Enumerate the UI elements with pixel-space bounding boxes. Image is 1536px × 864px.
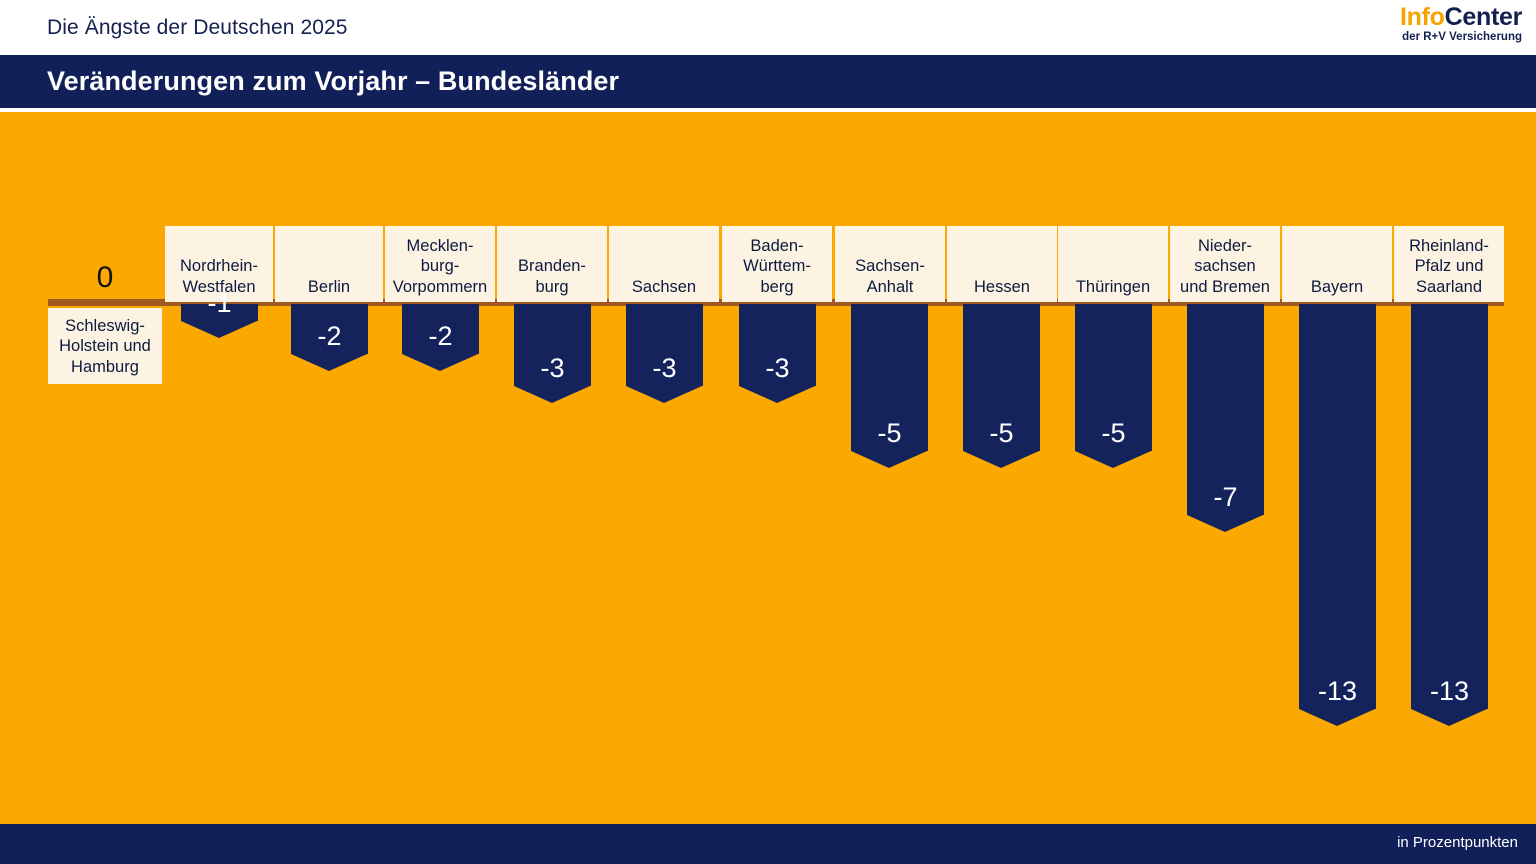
- bar-value-6: -3: [739, 355, 816, 382]
- bar-value-11: -13: [1299, 678, 1376, 705]
- bar-value-10: -7: [1187, 484, 1264, 511]
- category-label-6: Baden-Württem-berg: [722, 226, 832, 302]
- category-label-text: Mecklen-burg-Vorpommern: [393, 236, 487, 297]
- bar-value-12: -13: [1411, 678, 1488, 705]
- category-label-text: Thüringen: [1076, 277, 1150, 297]
- category-label-2: Berlin: [275, 226, 383, 302]
- logo-info-text: Info: [1400, 3, 1445, 31]
- category-label-4: Branden-burg: [497, 226, 607, 302]
- bar-value-1: -1: [181, 290, 258, 317]
- category-label-text: Bayern: [1311, 277, 1363, 297]
- bar-value-schleswig-holstein-und-hamburg: 0: [48, 263, 162, 293]
- bar-tip-9: [1075, 451, 1151, 468]
- category-label-text: Schleswig-Holstein undHamburg: [59, 316, 151, 377]
- chart-panel: 0Schleswig-Holstein undHamburgNordrhein-…: [0, 112, 1536, 824]
- infocenter-logo: InfoCenter der R+V Versicherung: [1400, 4, 1522, 43]
- category-label-text: Berlin: [308, 277, 350, 297]
- bar-tip-11: [1299, 709, 1375, 726]
- category-label-0: Schleswig-Holstein undHamburg: [48, 308, 162, 384]
- bar-value-3: -2: [402, 323, 479, 350]
- bar-value-5: -3: [626, 355, 703, 382]
- category-label-7: Sachsen-Anhalt: [835, 226, 945, 302]
- logo-subtitle: der R+V Versicherung: [1400, 31, 1522, 43]
- logo-wordmark: InfoCenter: [1400, 4, 1522, 30]
- bar-tip-10: [1187, 515, 1263, 532]
- bar-tip-8: [963, 451, 1039, 468]
- bar-tip-1: [181, 321, 257, 338]
- category-label-3: Mecklen-burg-Vorpommern: [385, 226, 495, 302]
- bar-tip-2: [291, 354, 367, 371]
- category-label-text: Baden-Württem-berg: [743, 236, 811, 297]
- footer-band: in Prozentpunkten: [0, 824, 1536, 864]
- chart-plot-area: 0Schleswig-Holstein undHamburgNordrhein-…: [0, 112, 1536, 824]
- bar-12: [1411, 304, 1488, 709]
- bar-value-9: -5: [1075, 420, 1152, 447]
- category-label-text: Hessen: [974, 277, 1030, 297]
- category-label-text: Rheinland-Pfalz undSaarland: [1409, 236, 1489, 297]
- bar-value-4: -3: [514, 355, 591, 382]
- category-label-text: Branden-burg: [518, 256, 586, 297]
- bar-value-8: -5: [963, 420, 1040, 447]
- bar-value-2: -2: [291, 323, 368, 350]
- bar-tip-3: [402, 354, 478, 371]
- category-label-9: Thüringen: [1058, 226, 1168, 302]
- category-label-text: Sachsen: [632, 277, 696, 297]
- category-label-5: Sachsen: [609, 226, 719, 302]
- logo-center-text: Center: [1445, 3, 1522, 31]
- bar-tip-6: [739, 386, 815, 403]
- bar-tip-7: [851, 451, 927, 468]
- bar-tip-4: [514, 386, 590, 403]
- unit-note: in Prozentpunkten: [1397, 834, 1518, 851]
- category-label-11: Bayern: [1282, 226, 1392, 302]
- category-label-12: Rheinland-Pfalz undSaarland: [1394, 226, 1504, 302]
- category-label-text: Sachsen-Anhalt: [855, 256, 925, 297]
- category-label-10: Nieder-sachsenund Bremen: [1170, 226, 1280, 302]
- category-label-8: Hessen: [947, 226, 1057, 302]
- title-band: Veränderungen zum Vorjahr – Bundesländer: [0, 55, 1536, 108]
- category-label-text: Nieder-sachsenund Bremen: [1180, 236, 1270, 297]
- bar-tip-12: [1411, 709, 1487, 726]
- page-title: Veränderungen zum Vorjahr – Bundesländer: [47, 66, 619, 97]
- bar-11: [1299, 304, 1376, 709]
- top-bar: Die Ängste der Deutschen 2025 InfoCenter…: [0, 0, 1536, 55]
- bar-value-7: -5: [851, 420, 928, 447]
- kicker-text: Die Ängste der Deutschen 2025: [47, 16, 348, 40]
- bar-tip-5: [626, 386, 702, 403]
